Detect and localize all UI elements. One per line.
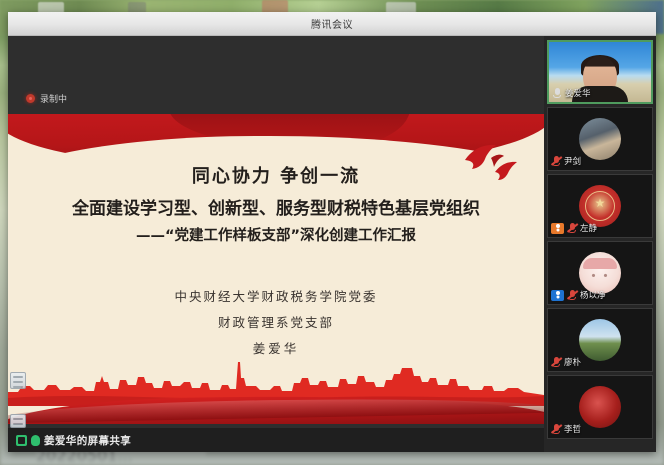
participant-tile-5[interactable]: 李哲 <box>547 375 653 439</box>
participant-tag: 廖朴 <box>551 356 581 368</box>
microphone-muted-icon <box>551 156 561 167</box>
slide-title-line1: 同心协力 争创一流 <box>8 162 544 188</box>
participant-tile-4[interactable]: 廖朴 <box>547 308 653 372</box>
ppt-thumbnail-badge[interactable] <box>10 372 26 389</box>
screen-share-bar: 姜爱华的屏幕共享 <box>8 428 544 452</box>
participant-tag: 姜爱华 <box>552 87 591 99</box>
microphone-muted-icon <box>551 424 561 435</box>
window-title: 腾讯会议 <box>311 16 353 31</box>
host-badge-icon <box>551 223 564 234</box>
screen-share-icon <box>16 435 27 446</box>
participant-name: 杨以净 <box>580 289 606 301</box>
participant-tag: 尹剑 <box>551 155 581 167</box>
window-titlebar: 腾讯会议 <box>8 12 656 36</box>
avatar-detail <box>583 258 617 269</box>
recording-indicator: 录制中 <box>26 92 67 105</box>
participant-tile-0[interactable]: 姜爱华 <box>547 40 653 104</box>
slide-subtitle-line2: 财政管理系党支部 <box>8 312 544 331</box>
participant-tag: 李哲 <box>551 423 581 435</box>
host-badge-icon <box>551 290 564 301</box>
avatar <box>579 118 621 160</box>
participant-name: 李哲 <box>564 423 581 435</box>
avatar <box>579 386 621 428</box>
recording-label: 录制中 <box>40 92 67 105</box>
participant-name: 姜爱华 <box>565 87 591 99</box>
slide-subtitle-line1: 中央财经大学财政税务学院党委 <box>8 286 544 305</box>
avatar <box>579 319 621 361</box>
slide-title-line2: 全面建设学习型、创新型、服务型财税特色基层党组织 <box>8 194 544 219</box>
meeting-window: 腾讯会议 录制中 同心协力 争创一 <box>8 12 656 452</box>
avatar: • • <box>579 252 621 294</box>
shared-screen-stage: 录制中 同心协力 争创一流 全面建设学习型、创新型、服务型财税特色基层党组织 —… <box>8 36 544 452</box>
microphone-muted-icon <box>551 357 561 368</box>
participant-name: 尹剑 <box>564 155 581 167</box>
participant-tile-1[interactable]: 尹剑 <box>547 107 653 171</box>
participant-tag: 左静 <box>551 222 597 234</box>
avatar: ★ <box>579 185 621 227</box>
participant-tile-2[interactable]: ★ 左静 <box>547 174 653 238</box>
microphone-muted-icon <box>567 290 577 301</box>
ppt-thumbnail-badge[interactable] <box>10 414 26 428</box>
microphone-muted-icon <box>567 223 577 234</box>
star-icon: ★ <box>595 197 606 209</box>
participant-name: 廖朴 <box>564 356 581 368</box>
participant-strip[interactable]: 姜爱华 尹剑 ★ 左静 <box>544 36 656 452</box>
presentation-slide: 同心协力 争创一流 全面建设学习型、创新型、服务型财税特色基层党组织 ——“党建… <box>8 114 544 424</box>
window-body: 录制中 同心协力 争创一流 全面建设学习型、创新型、服务型财税特色基层党组织 —… <box>8 36 656 452</box>
share-owner-label: 姜爱华的屏幕共享 <box>44 433 131 448</box>
slide-title-line3: ——“党建工作样板支部”深化创建工作汇报 <box>8 224 544 245</box>
microphone-icon <box>552 88 562 99</box>
avatar-detail: • • <box>590 269 609 282</box>
microphone-icon <box>31 435 40 446</box>
record-dot-icon <box>26 94 35 103</box>
participant-name: 左静 <box>580 222 597 234</box>
participant-tag: 杨以净 <box>551 289 606 301</box>
participant-tile-3[interactable]: • • 杨以净 <box>547 241 653 305</box>
